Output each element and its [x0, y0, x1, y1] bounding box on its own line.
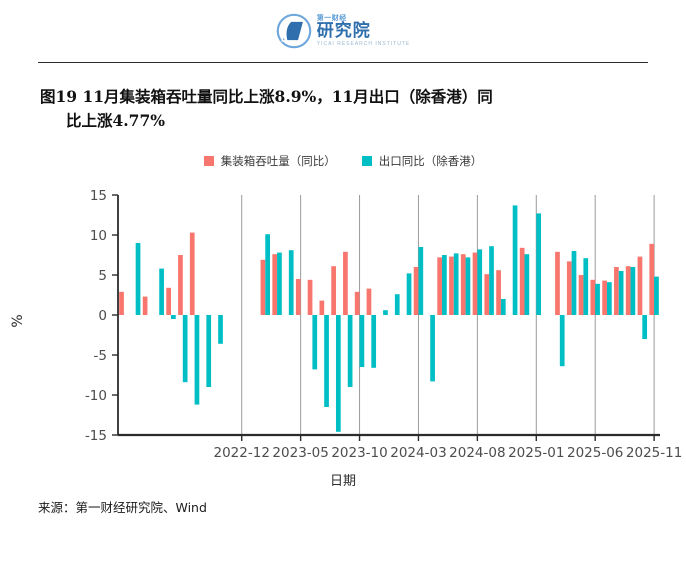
- bar[interactable]: [619, 271, 624, 315]
- bar[interactable]: [395, 294, 400, 315]
- bars-series-exports: [136, 205, 659, 431]
- bar[interactable]: [166, 288, 171, 315]
- bar[interactable]: [383, 310, 388, 315]
- bar[interactable]: [418, 247, 423, 315]
- x-axis-title: 日期: [0, 470, 686, 489]
- legend-item-container-throughput[interactable]: 集装箱吞吐量（同比）: [204, 153, 336, 169]
- legend-item-exports[interactable]: 出口同比（除香港）: [362, 153, 483, 169]
- bar[interactable]: [265, 234, 270, 315]
- bar[interactable]: [626, 266, 631, 315]
- y-axis-title: %: [10, 314, 26, 327]
- chart-legend: 集装箱吞吐量（同比） 出口同比（除香港）: [0, 153, 686, 169]
- bar[interactable]: [272, 254, 277, 315]
- bar[interactable]: [355, 292, 360, 315]
- y-axis-tick-label: -15: [85, 428, 107, 444]
- bar[interactable]: [277, 253, 282, 315]
- bar[interactable]: [602, 281, 607, 315]
- bar[interactable]: [407, 273, 412, 315]
- bar[interactable]: [649, 244, 654, 315]
- bar[interactable]: [218, 315, 223, 344]
- bar[interactable]: [513, 205, 518, 315]
- bar[interactable]: [489, 246, 494, 315]
- legend-label-exports: 出口同比（除香港）: [379, 153, 483, 169]
- legend-swatch-red: [204, 156, 214, 166]
- bar[interactable]: [308, 280, 313, 315]
- bar[interactable]: [473, 253, 478, 315]
- x-axis-tick-label: 2025-06: [567, 445, 623, 461]
- bar[interactable]: [567, 261, 572, 315]
- y-axis-tick-label: 15: [90, 188, 107, 204]
- bar[interactable]: [454, 253, 459, 315]
- bar[interactable]: [183, 315, 188, 382]
- bar[interactable]: [296, 279, 301, 315]
- x-axis-tick-label: 2024-08: [449, 445, 505, 461]
- bar[interactable]: [437, 257, 442, 315]
- legend-label-container-throughput: 集装箱吞吐量（同比）: [221, 153, 336, 169]
- x-axis-tick-label: 2025-11: [626, 445, 682, 461]
- y-axis-tick-label: -10: [85, 388, 107, 404]
- page-title-line-2: 比上涨4.77%: [40, 109, 646, 133]
- bar[interactable]: [496, 270, 501, 315]
- bar[interactable]: [324, 315, 329, 407]
- bar[interactable]: [171, 315, 176, 319]
- logo-brand-main: 研究院: [317, 23, 410, 40]
- bar[interactable]: [136, 243, 141, 315]
- page-title: 图19 11月集装箱吞吐量同比上涨8.9%，11月出口（除香港）同 比上涨4.7…: [40, 85, 646, 133]
- bar[interactable]: [536, 213, 541, 315]
- bar[interactable]: [555, 252, 560, 315]
- bar[interactable]: [638, 257, 643, 315]
- y-axis-tick-label: 5: [98, 268, 107, 284]
- bar[interactable]: [449, 257, 454, 315]
- source-note: 来源：第一财经研究院、Wind: [38, 497, 686, 516]
- bar[interactable]: [371, 315, 376, 368]
- bar[interactable]: [430, 315, 435, 381]
- x-axis-tick-label: 2025-01: [508, 445, 564, 461]
- bar[interactable]: [414, 267, 419, 315]
- bar[interactable]: [312, 315, 317, 369]
- y-axis-title-group: %: [10, 314, 26, 327]
- bar[interactable]: [261, 260, 266, 315]
- bar[interactable]: [595, 284, 600, 315]
- bar[interactable]: [119, 292, 124, 315]
- bar[interactable]: [206, 315, 211, 387]
- bar[interactable]: [461, 254, 466, 315]
- header-divider: [38, 62, 648, 63]
- bar[interactable]: [579, 275, 584, 315]
- bar-chart-svg: % 151050-5-10-15 2022-122023-052023-1020…: [0, 183, 686, 468]
- bar[interactable]: [336, 315, 341, 432]
- bar[interactable]: [159, 269, 164, 315]
- y-axis-tick-label: 10: [90, 228, 107, 244]
- legend-swatch-teal: [362, 156, 372, 166]
- x-axis-tick-label: 2022-12: [214, 445, 270, 461]
- bar[interactable]: [178, 255, 183, 315]
- bar[interactable]: [614, 267, 619, 315]
- bar[interactable]: [572, 251, 577, 315]
- bar[interactable]: [590, 280, 595, 315]
- bar[interactable]: [642, 315, 647, 339]
- y-axis-tick-label: 0: [98, 308, 107, 324]
- yicai-logo-icon: [276, 13, 312, 49]
- header-logo-area: 第一财经 研究院 YICAI RESEARCH INSTITUTE: [0, 0, 686, 62]
- x-axis-ticks-group: 2022-122023-052023-102024-032024-082025-…: [214, 435, 683, 461]
- bar[interactable]: [190, 233, 195, 315]
- bar[interactable]: [466, 257, 471, 315]
- y-axis-tick-label: -5: [94, 348, 107, 364]
- bar[interactable]: [484, 274, 489, 315]
- logo: 第一财经 研究院 YICAI RESEARCH INSTITUTE: [276, 13, 410, 49]
- bar[interactable]: [195, 315, 200, 405]
- bar[interactable]: [525, 254, 530, 315]
- logo-brand-sub: YICAI RESEARCH INSTITUTE: [317, 42, 410, 47]
- x-axis-tick-label: 2024-03: [390, 445, 446, 461]
- bar[interactable]: [360, 315, 365, 367]
- bar[interactable]: [560, 315, 565, 366]
- bar[interactable]: [501, 299, 506, 315]
- bar[interactable]: [367, 289, 372, 315]
- bar[interactable]: [583, 258, 588, 315]
- chart-plot-area: % 151050-5-10-15 2022-122023-052023-1020…: [0, 183, 686, 473]
- x-axis-tick-label: 2023-05: [272, 445, 328, 461]
- bar[interactable]: [289, 250, 294, 315]
- logo-text-block: 第一财经 研究院 YICAI RESEARCH INSTITUTE: [317, 15, 410, 47]
- bar[interactable]: [631, 267, 636, 315]
- bar[interactable]: [348, 315, 353, 387]
- x-axis-tick-label: 2023-10: [331, 445, 387, 461]
- bar[interactable]: [520, 248, 525, 315]
- bar[interactable]: [143, 297, 148, 315]
- bar[interactable]: [343, 252, 348, 315]
- y-axis-ticks-group: 151050-5-10-15: [85, 188, 118, 444]
- bar[interactable]: [319, 301, 324, 315]
- bar[interactable]: [607, 282, 612, 315]
- bar[interactable]: [331, 266, 336, 315]
- bar[interactable]: [477, 249, 482, 315]
- page-title-line-1: 图19 11月集装箱吞吐量同比上涨8.9%，11月出口（除香港）同: [40, 87, 493, 106]
- bar[interactable]: [442, 255, 447, 315]
- bar[interactable]: [654, 277, 659, 315]
